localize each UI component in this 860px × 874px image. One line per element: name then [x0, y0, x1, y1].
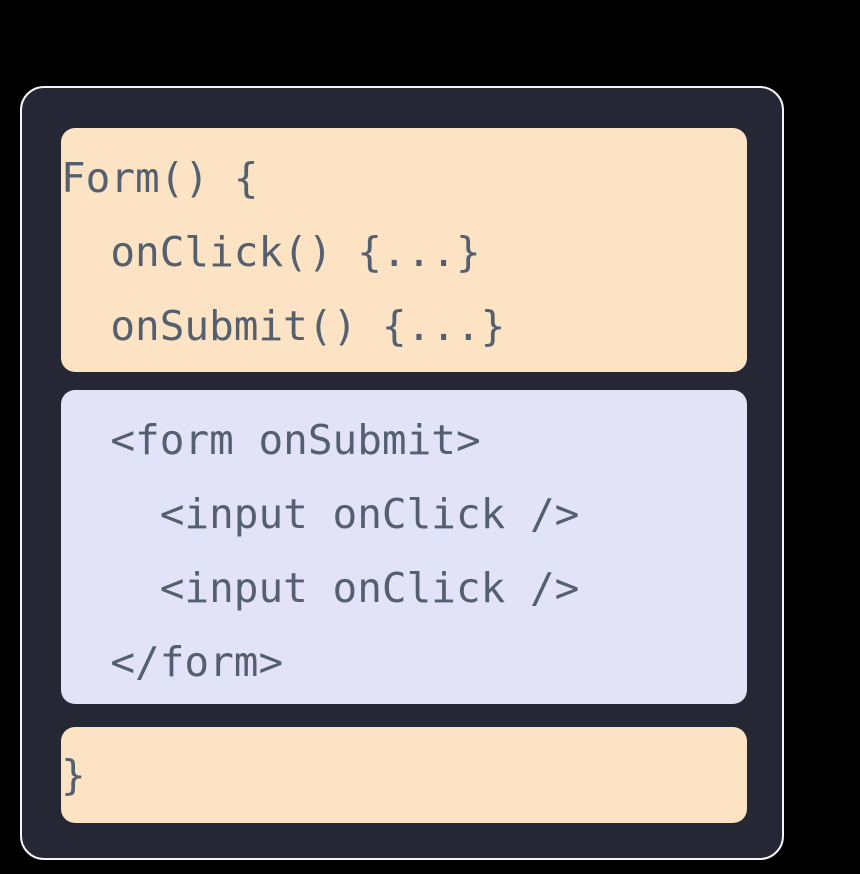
code-line-group: }: [61, 727, 747, 823]
component-markup-block: <form onSubmit> <input onClick /> <input…: [61, 390, 747, 704]
code-line: Form() {: [61, 154, 747, 202]
component-header-block: Form() { onClick() {...} onSubmit() {...…: [61, 128, 747, 372]
code-line-group: Form() { onClick() {...} onSubmit() {...…: [61, 128, 747, 372]
code-container: Form() { onClick() {...} onSubmit() {...…: [20, 86, 784, 860]
component-footer-block: }: [61, 727, 747, 823]
code-line-group: <form onSubmit> <input onClick /> <input…: [61, 390, 747, 704]
figure-canvas: Form() { onClick() {...} onSubmit() {...…: [0, 0, 860, 874]
code-line: }: [61, 751, 747, 799]
code-line: <input onClick />: [61, 564, 747, 612]
code-line: <form onSubmit>: [61, 416, 747, 464]
code-line: <input onClick />: [61, 490, 747, 538]
code-line: onSubmit() {...}: [61, 302, 747, 350]
code-line: onClick() {...}: [61, 228, 747, 276]
code-line: </form>: [61, 638, 747, 686]
